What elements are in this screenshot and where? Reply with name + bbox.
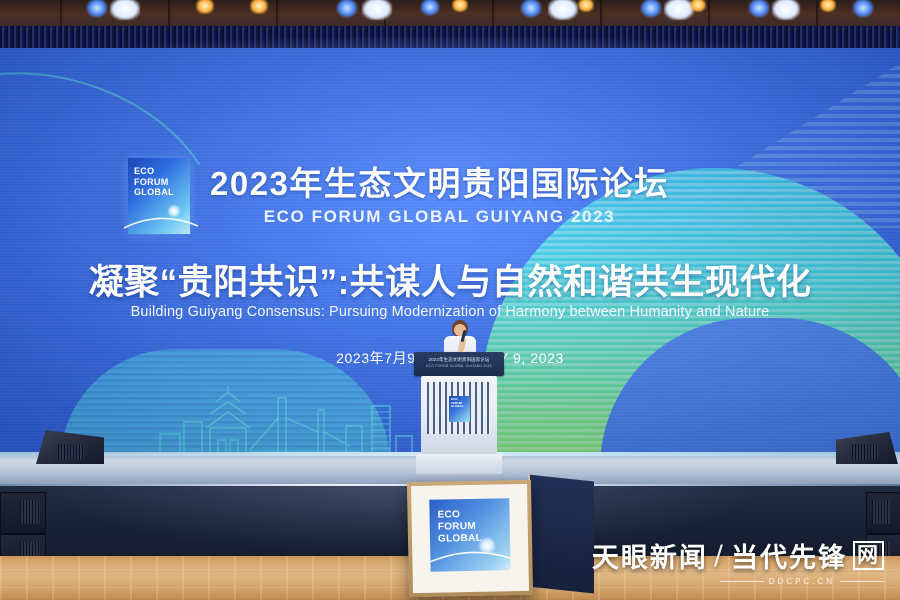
podium-lectern: 2023年生态文明贵阳国际论坛 ECO FORUM GLOBAL GUIYANG…	[414, 352, 504, 474]
board-logo-curve	[430, 542, 510, 566]
speaker-grill	[872, 500, 890, 524]
stage-light-white	[110, 0, 140, 20]
watermark-domain: DDCPC.CN	[769, 577, 835, 586]
stage-light-amber	[578, 0, 594, 12]
stage-light-amber	[196, 0, 214, 14]
wedge-grill-left	[58, 444, 84, 460]
stage-light-white	[548, 0, 578, 20]
news-watermark: 天眼新闻 / 当代先锋 网 DDCPC.CN	[592, 536, 884, 586]
stage-light-amber	[690, 0, 706, 12]
watermark-source-secondary: 当代先锋	[731, 536, 847, 575]
stage-light-blue	[520, 0, 542, 18]
logo-line-2: FORUM	[134, 177, 174, 188]
podium-signage-panel: 2023年生态文明贵阳国际论坛 ECO FORUM GLOBAL GUIYANG…	[414, 352, 504, 376]
watermark-source-secondary-boxed: 网	[853, 541, 884, 570]
backdrop-titles: 2023年生态文明贵阳国际论坛 ECO FORUM GLOBAL GUIYANG…	[210, 165, 669, 228]
watermark-separator: /	[714, 540, 725, 571]
stage-light-blue	[852, 0, 874, 18]
watermark-rule-left	[720, 581, 764, 582]
eco-forum-global-logo-icon: ECO FORUM GLOBAL	[128, 158, 190, 234]
logo-line-3: GLOBAL	[134, 187, 174, 198]
board-eco-forum-global-logo-icon: ECO FORUM GLOBAL	[429, 498, 510, 572]
podium-base	[416, 454, 502, 474]
forum-title-cn: 2023年生态文明贵阳国际论坛	[210, 165, 669, 203]
conference-stage-photo: ECO FORUM GLOBAL 2023年生态文明贵阳国际论坛 ECO FOR…	[0, 0, 900, 600]
stage-light-blue	[640, 0, 662, 18]
board-logo-line-1: ECO	[437, 509, 481, 522]
stage-light-amber	[250, 0, 268, 14]
foreground-board-backing	[528, 475, 594, 594]
speaker-grill	[20, 500, 40, 524]
watermark-rule-right	[840, 581, 884, 582]
board-logo-line-2: FORUM	[438, 521, 482, 534]
stage-light-white	[362, 0, 392, 20]
podium-sign-cn: 2023年生态文明贵阳国际论坛	[414, 357, 504, 363]
forum-slogan-en: Building Guiyang Consensus: Pursuing Mod…	[0, 304, 900, 320]
podium-logo-plaque: ECO FORUM GLOBAL	[449, 396, 470, 422]
watermark-source-primary: 天眼新闻	[592, 536, 708, 575]
wedge-grill-right	[852, 444, 878, 459]
podium-plaque-line-3: GLOBAL	[451, 405, 464, 409]
forum-title-en: ECO FORUM GLOBAL GUIYANG 2023	[210, 206, 669, 228]
stage-light-white	[772, 0, 800, 20]
logo-line-1: ECO	[134, 166, 174, 177]
stage-light-amber	[452, 0, 468, 12]
foreground-framed-logo-board: ECO FORUM GLOBAL	[407, 480, 533, 597]
stage-light-blue	[748, 0, 770, 18]
backdrop-header: ECO FORUM GLOBAL 2023年生态文明贵阳国际论坛 ECO FOR…	[128, 158, 669, 234]
podium-sign-en: ECO FORUM GLOBAL GUIYANG 2023	[414, 364, 504, 368]
logo-curve	[124, 206, 198, 232]
forum-slogan-cn: 凝聚“贵阳共识”:共谋人与自然和谐共生现代化	[0, 254, 900, 305]
stage-light-blue	[86, 0, 108, 18]
stage-light-amber	[820, 0, 836, 12]
stage-light-blue	[420, 0, 440, 16]
stage-light-blue	[336, 0, 358, 18]
